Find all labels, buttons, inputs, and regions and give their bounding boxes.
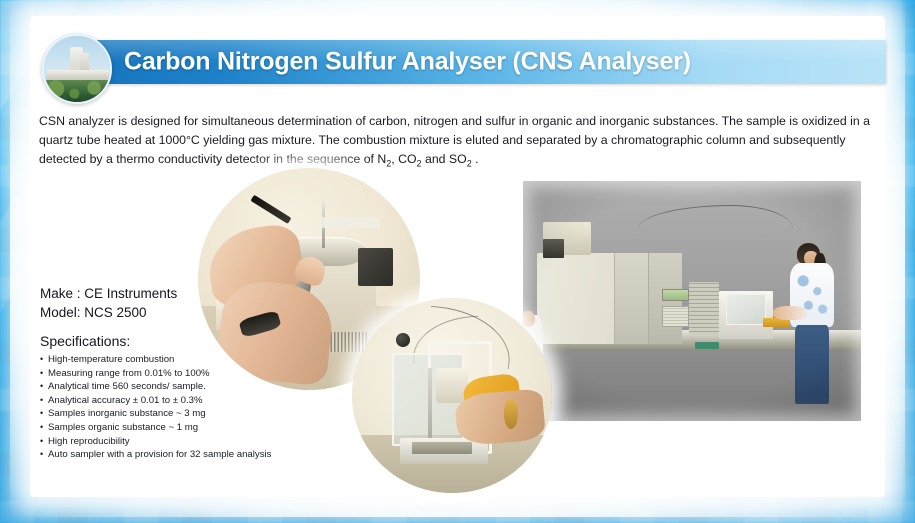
circle1-pen	[251, 194, 292, 223]
circle2-knob	[396, 333, 410, 347]
poster-root: Carbon Nitrogen Sulfur Analyser (CNS Ana…	[0, 0, 915, 523]
specifications-list: High-temperature combustion Measuring ra…	[40, 353, 271, 462]
spec-item: Measuring range from 0.01% to 100%	[40, 367, 271, 381]
circle1-motor-block	[358, 248, 394, 286]
content-panel: Carbon Nitrogen Sulfur Analyser (CNS Ana…	[30, 16, 885, 497]
specifications-block: Specifications: High-temperature combust…	[40, 332, 271, 462]
spec-item: Analytical time 560 seconds/ sample.	[40, 380, 271, 394]
spec-item: High-temperature combustion	[40, 353, 271, 367]
circle1-instrument-label	[322, 217, 380, 228]
model-line: Model: NCS 2500	[40, 303, 177, 322]
spec-item: High reproducibility	[40, 435, 271, 449]
specifications-title: Specifications:	[40, 332, 271, 350]
spec-item: Auto sampler with a provision for 32 sam…	[40, 448, 271, 462]
balance-photograph	[352, 298, 552, 493]
circle2-balance-display	[412, 442, 472, 454]
make-line: Make : CE Instruments	[40, 284, 177, 303]
make-model-block: Make : CE Instruments Model: NCS 2500	[40, 284, 177, 322]
spec-item: Samples organic substance ~ 1 mg	[40, 421, 271, 435]
photo-soft-edge	[523, 181, 861, 421]
circle2-balance-post	[428, 368, 432, 446]
lab-photograph	[523, 181, 861, 421]
spec-item: Analytical accuracy ± 0.01 to ± 0.3%	[40, 394, 271, 408]
circle2-bangle	[504, 399, 518, 428]
spec-item: Samples inorganic substance ~ 3 mg	[40, 407, 271, 421]
